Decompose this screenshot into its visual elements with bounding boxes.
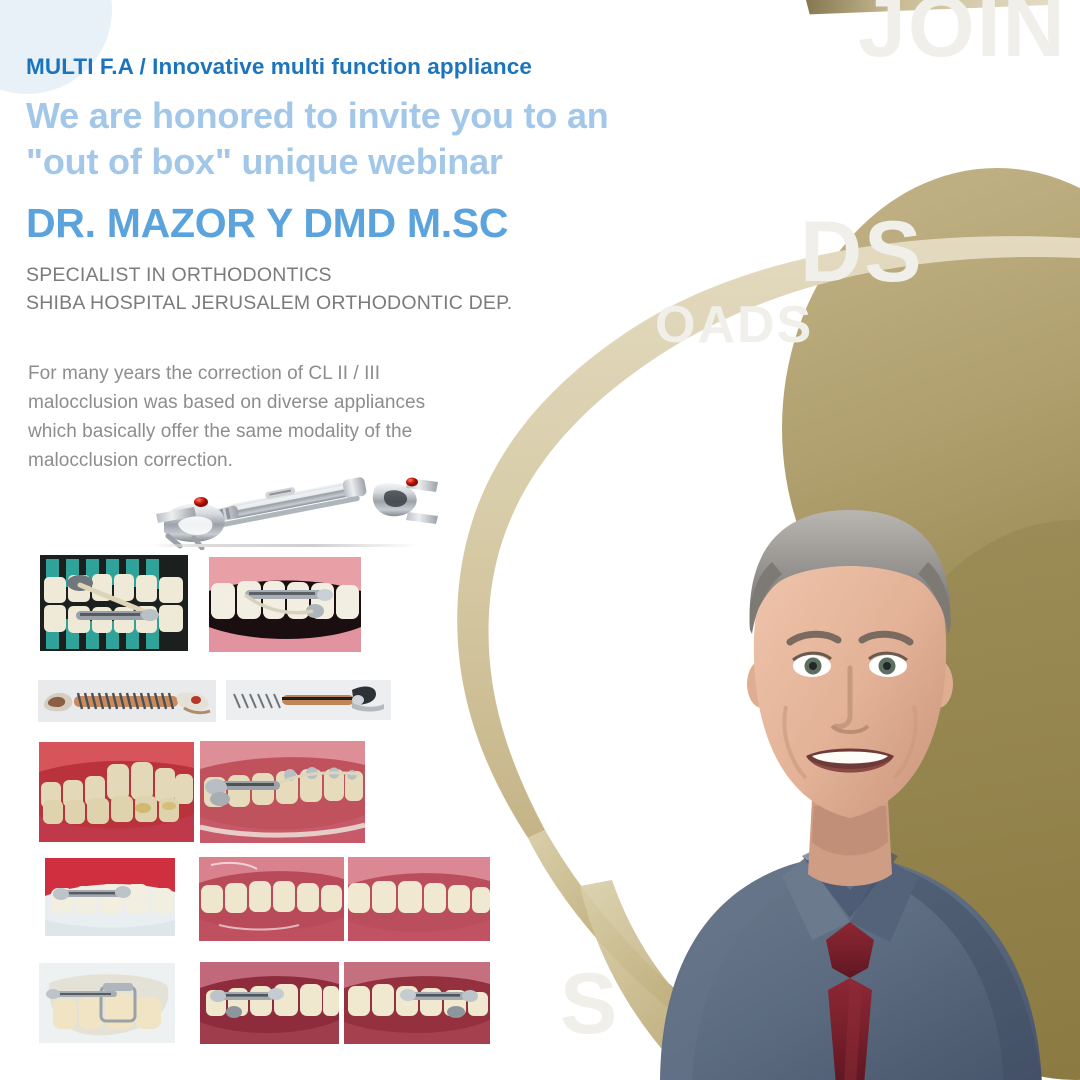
photo-malocclusion-before — [39, 742, 194, 842]
photo-appliance-rod-closeup — [226, 680, 391, 720]
photo-appliance-spring-closeup — [38, 680, 216, 722]
appliance-shadow — [152, 544, 420, 547]
body-paragraph: For many years the correction of CL II /… — [28, 360, 448, 476]
watermark-join: JOIN — [858, 0, 1067, 77]
invitation-subtitle: We are honored to invite you to an "out … — [26, 93, 726, 185]
poster-root: JOIN DS OADS S MULTI F.A / Innovative mu… — [0, 0, 1080, 1080]
gold-sliver-decoration — [795, 0, 1051, 51]
photo-appliance-lateral-a — [200, 962, 339, 1044]
photo-model-with-band — [39, 963, 175, 1043]
multi-fa-appliance-render — [150, 462, 440, 550]
photo-occlusal-appliance-model — [40, 555, 188, 651]
photo-lateral-right — [199, 857, 344, 941]
watermark-oads: OADS — [655, 295, 813, 355]
photo-lateral-left — [348, 857, 490, 941]
subtitle-line-2: "out of box" unique webinar — [26, 139, 726, 185]
kicker-label: MULTI F.A / Innovative multi function ap… — [26, 54, 532, 80]
speaker-portrait — [600, 470, 1080, 1080]
photo-upper-arch-appliance — [45, 858, 175, 936]
subtitle-line-1: We are honored to invite you to an — [26, 93, 726, 139]
photo-appliance-lateral-b — [344, 962, 490, 1044]
photo-appliance-in-place — [200, 741, 365, 843]
credential-line-1: SPECIALIST IN ORTHODONTICS — [26, 262, 646, 290]
photo-buccal-appliance-pink — [209, 557, 361, 652]
credential-line-2: SHIBA HOSPITAL JERUSALEM ORTHODONTIC DEP… — [26, 290, 646, 318]
speaker-name-heading: DR. MAZOR Y DMD M.SC — [26, 200, 508, 247]
watermark-ds: DS — [800, 203, 923, 302]
speaker-credentials: SPECIALIST IN ORTHODONTICS SHIBA HOSPITA… — [26, 262, 646, 317]
